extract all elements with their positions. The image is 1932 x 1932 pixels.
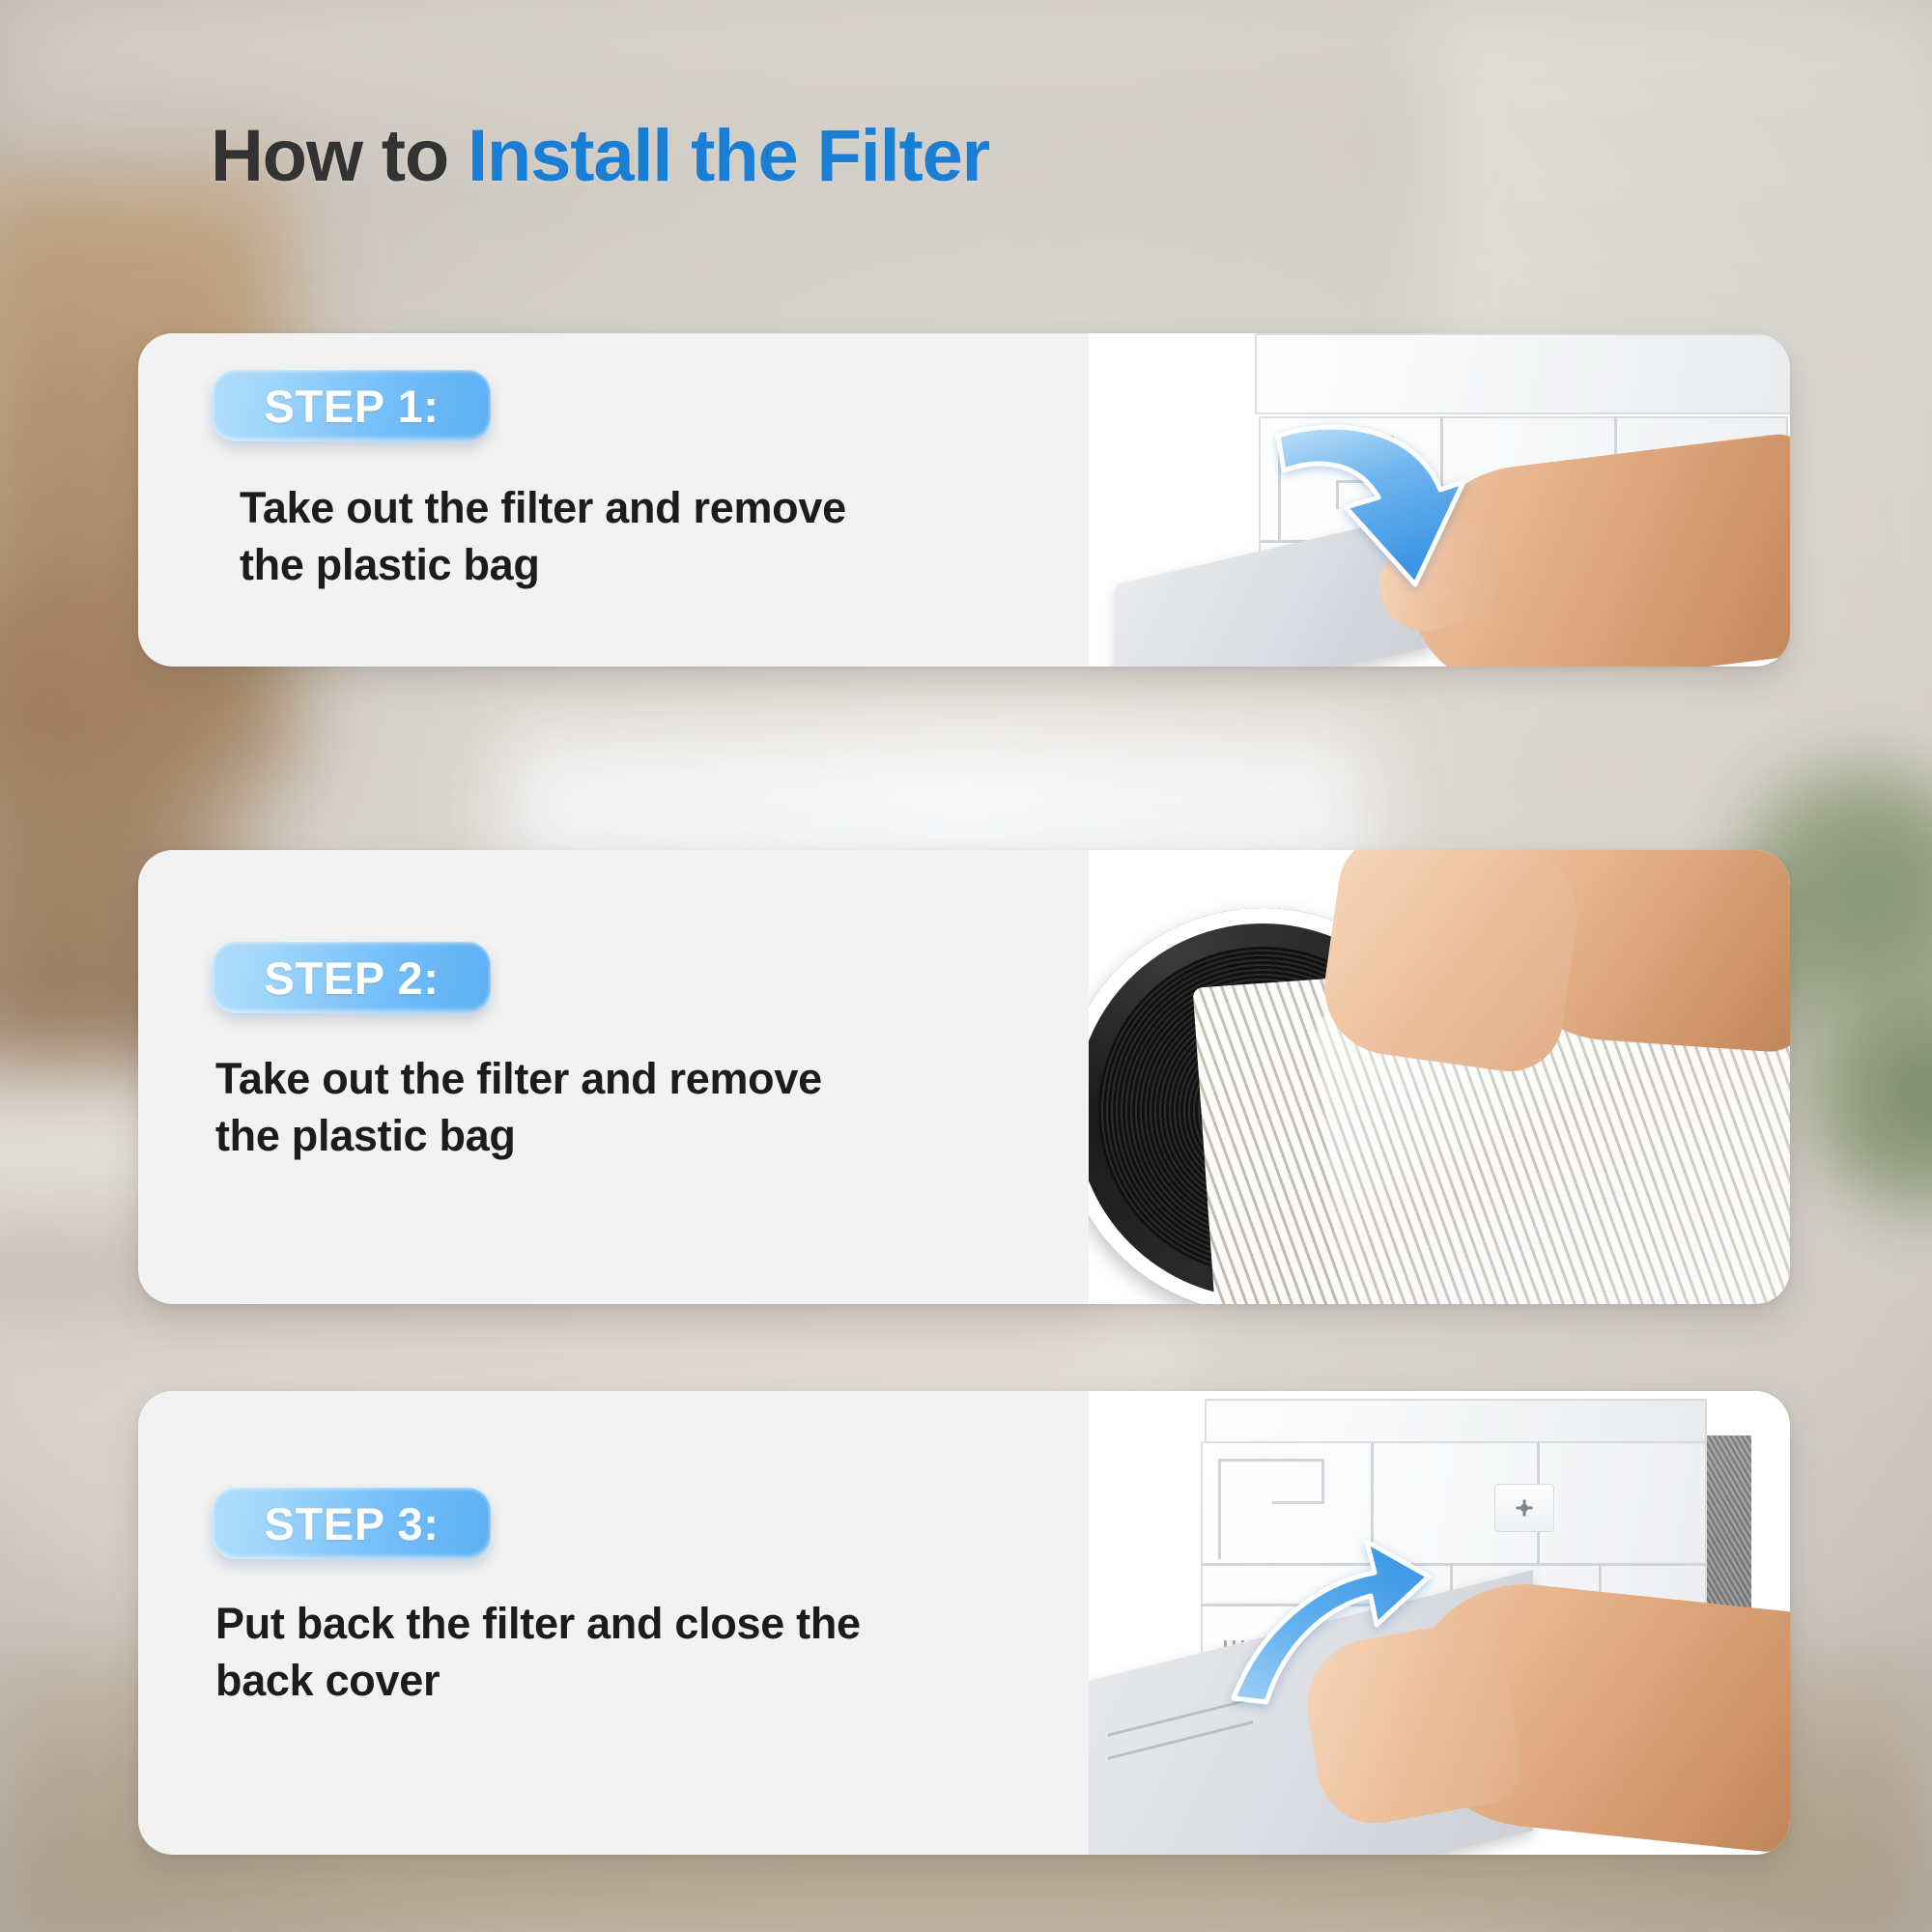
- purifier-body: [1610, 947, 1790, 1236]
- arrow-up-icon: [1224, 1517, 1436, 1710]
- step-2-badge-label: STEP 2:: [265, 952, 440, 1005]
- purifier-side-mesh: [1782, 497, 1790, 667]
- step-card-2[interactable]: STEP 2: Take out the filter and remove t…: [138, 850, 1790, 1304]
- purifier-top-frame: [1255, 333, 1790, 414]
- step-3-badge-label: STEP 3:: [265, 1497, 440, 1550]
- pleated-hepa-filter: [1193, 945, 1790, 1304]
- step-1-photo: [1089, 333, 1790, 667]
- page-title-lead: How to: [211, 115, 468, 197]
- hand: [1316, 850, 1586, 1078]
- arrow-down-icon: [1270, 414, 1473, 637]
- forearm: [1396, 1573, 1790, 1855]
- step-card-3[interactable]: STEP 3: Put back the filter and close th…: [138, 1391, 1790, 1855]
- step-3-photo: [1089, 1391, 1790, 1855]
- purifier-control-button: [1577, 469, 1640, 521]
- step-2-badge: STEP 2:: [213, 942, 491, 1013]
- purifier-filter-slot: [1668, 1130, 1775, 1188]
- purifier-control-button: [1494, 1484, 1554, 1532]
- step-1-badge-label: STEP 1:: [265, 380, 440, 433]
- step-1-badge: STEP 1:: [213, 370, 491, 441]
- step-2-description: Take out the filter and remove the plast…: [215, 1051, 822, 1164]
- back-cover-detail-line-2: [1108, 1720, 1253, 1759]
- filter-carbon-mesh: [1098, 947, 1427, 1275]
- purifier-side-mesh: [1707, 1435, 1751, 1754]
- plastic-bag: [1316, 974, 1790, 1304]
- purifier-top-frame: [1205, 1399, 1707, 1443]
- purifier-top-grille: [1259, 337, 1788, 405]
- page-title: How to Install the Filter: [211, 114, 989, 198]
- page-title-accent: Install the Filter: [468, 115, 989, 197]
- filter-outer-ring: [1089, 908, 1465, 1304]
- step-3-description: Put back the filter and close the back c…: [215, 1596, 861, 1709]
- step-card-1[interactable]: STEP 1: Take out the filter and remove t…: [138, 333, 1790, 667]
- step-2-photo: [1089, 850, 1790, 1304]
- step-1-description: Take out the filter and remove the plast…: [240, 480, 846, 593]
- purifier-side-mesh: [1765, 947, 1790, 1236]
- step-3-badge: STEP 3:: [213, 1488, 491, 1559]
- forearm: [1488, 850, 1790, 1054]
